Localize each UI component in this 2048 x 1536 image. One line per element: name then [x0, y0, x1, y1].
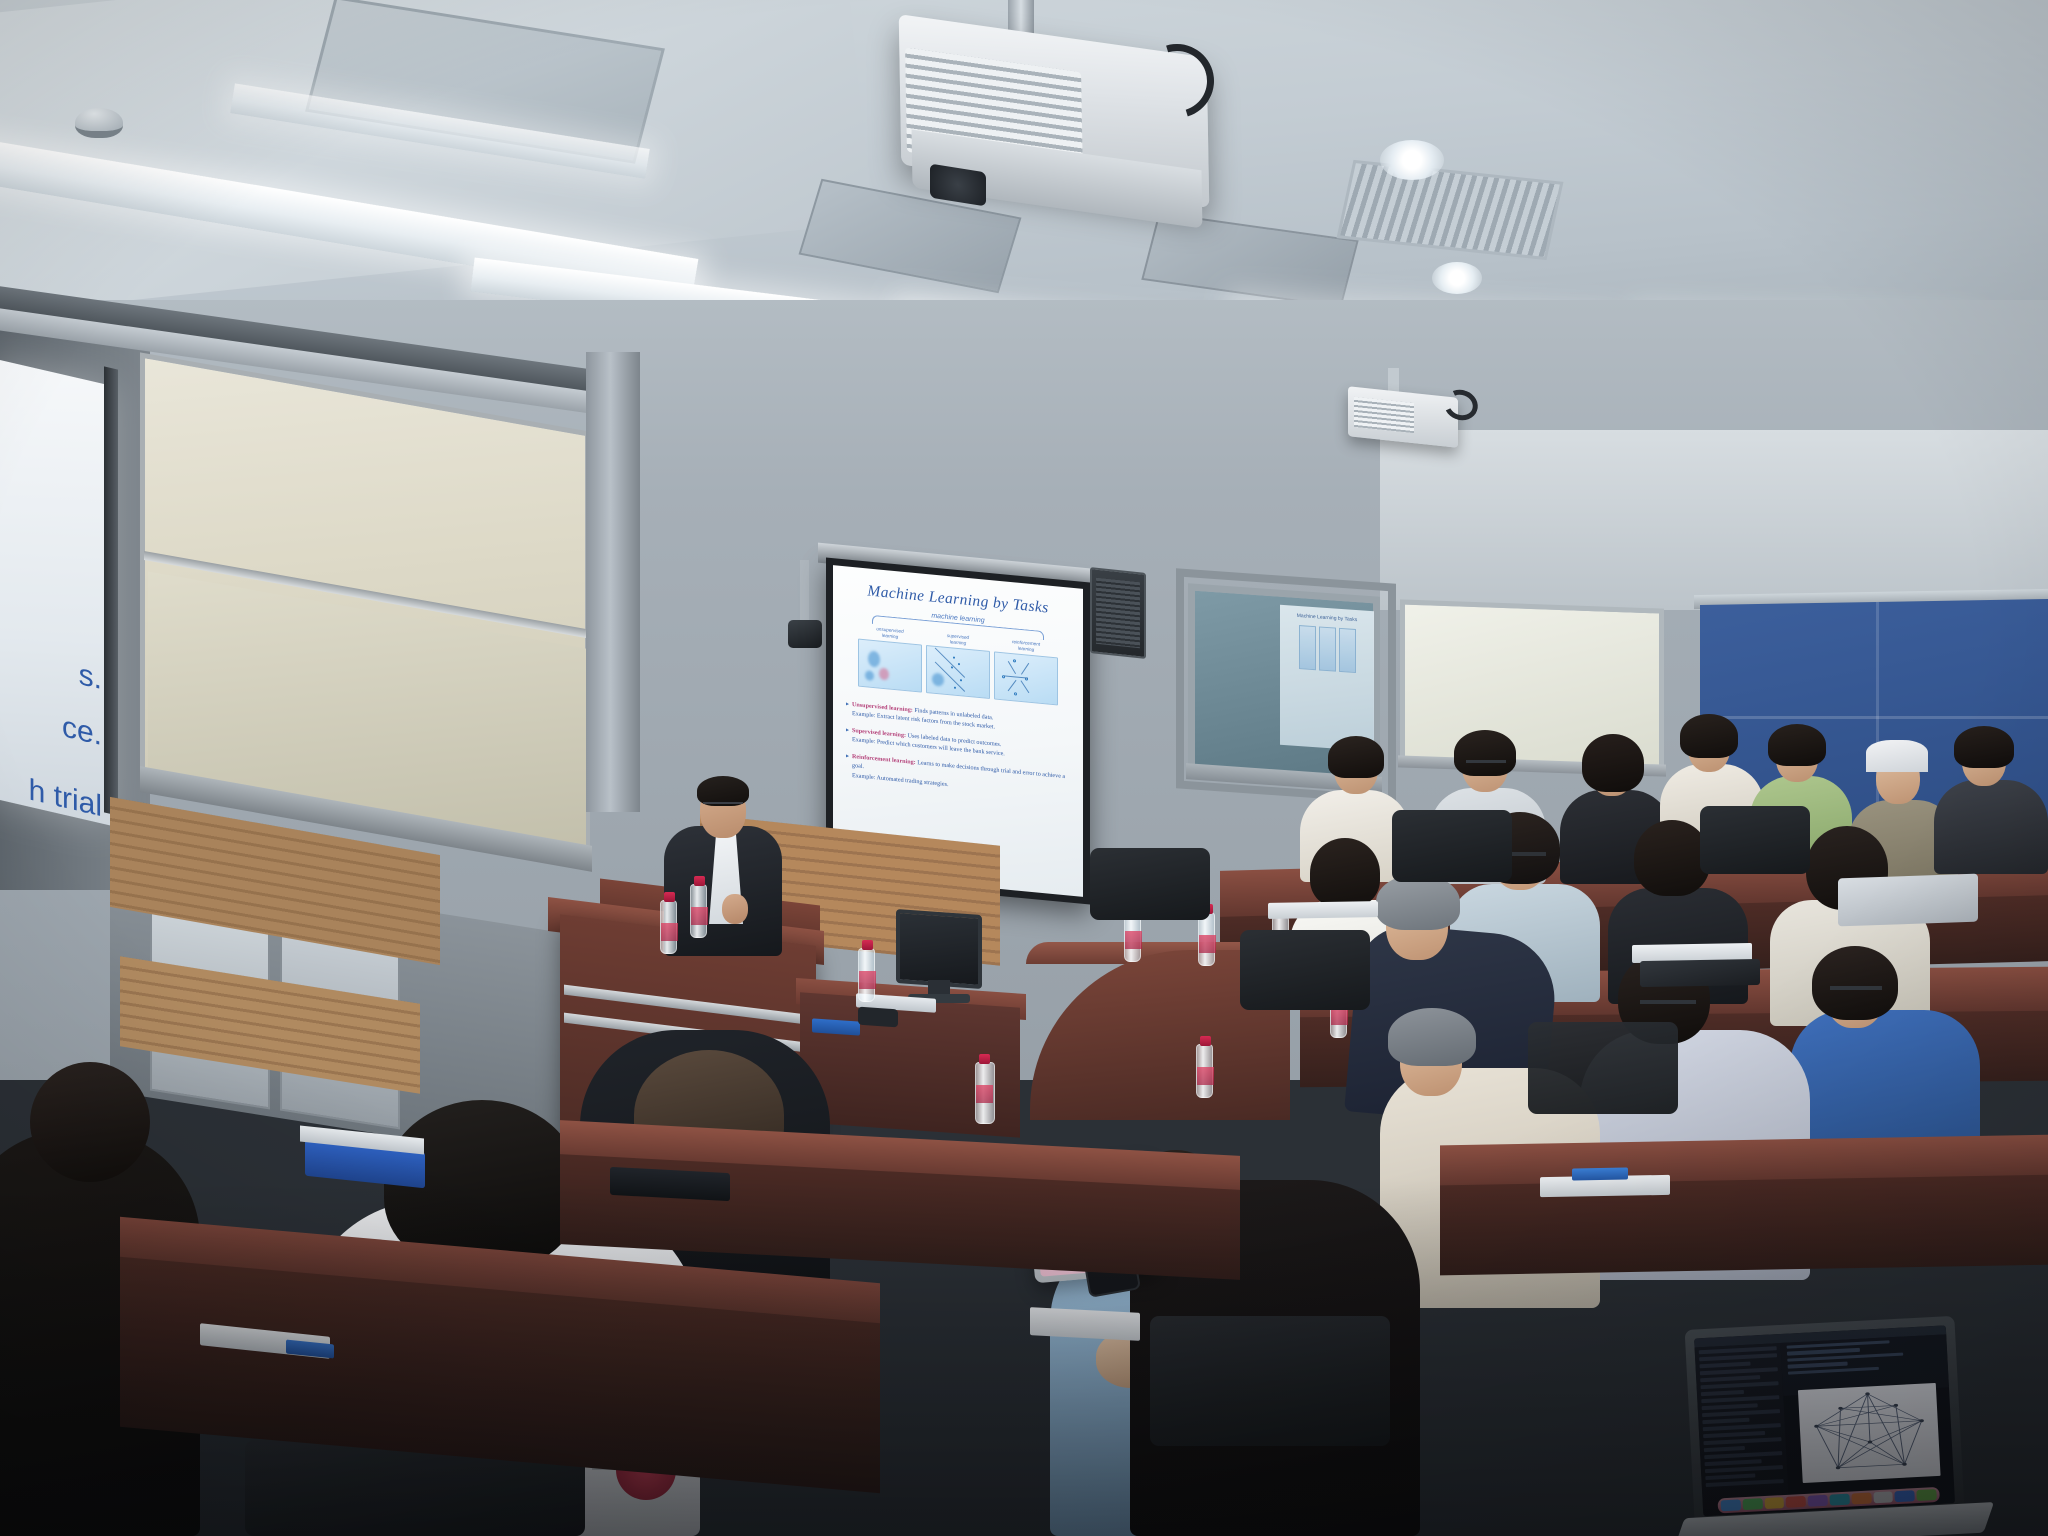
glasses-icon	[1640, 1000, 1696, 1012]
glasses-icon	[1466, 760, 1506, 769]
water-bottle	[1198, 912, 1215, 966]
chair	[1150, 1316, 1390, 1446]
laptop-open[interactable]	[1838, 874, 1978, 927]
attendee-hair	[1310, 838, 1380, 908]
attendee-hair	[1812, 946, 1898, 1020]
slide-diagram: machine learning unsupervisedlearning su…	[858, 606, 1058, 713]
lecture-hall-photo: s. ce. h trial Machine Learning by Tasks…	[0, 0, 2048, 1536]
attendee-cap	[1866, 740, 1928, 772]
wall-column	[586, 352, 640, 812]
attendee-hair	[1680, 714, 1738, 758]
water-bottle	[690, 884, 707, 938]
panel-seam	[1876, 602, 1879, 832]
diagram-thumb-supervised	[926, 645, 990, 699]
attendee-grey-hair	[1388, 1008, 1476, 1066]
papers	[1268, 901, 1378, 919]
rear-projector-vent-grille	[1354, 397, 1414, 433]
laptop-lid	[1685, 1316, 1965, 1526]
chair	[1240, 930, 1370, 1010]
attendee-grey-hair	[1376, 874, 1460, 930]
attendee-hair	[1454, 730, 1516, 776]
podium-monitor	[896, 909, 982, 989]
attendee-body	[1934, 780, 2048, 874]
water-bottle	[858, 948, 875, 1002]
attendee-hair	[1954, 726, 2014, 768]
audience-desk-right	[1440, 1175, 2048, 1276]
presenter-hand	[722, 894, 748, 924]
attendee-hair	[1582, 734, 1644, 792]
handout	[1030, 1307, 1140, 1341]
right-upper-wall	[1380, 430, 2048, 610]
diagram-thumb-reinforcement	[994, 651, 1058, 705]
bullet-arrow-icon: ▸	[846, 752, 849, 781]
laptop-screen[interactable]	[1694, 1325, 1955, 1516]
diagram-thumb-unsupervised	[858, 639, 922, 693]
left-screen-text: s. ce. h trial	[0, 626, 108, 833]
camera-icon	[788, 620, 822, 648]
slide-bullet-list: ▸ Unsupervised learning: Finds patterns …	[846, 700, 1070, 801]
glasses-icon	[703, 802, 743, 811]
left-screen-frame	[104, 366, 118, 815]
attendee-hair	[1768, 724, 1826, 766]
water-bottle	[660, 900, 677, 954]
diagram-branch: supervisedlearning	[926, 631, 990, 699]
bullet-example: Example: Automated trading strategies.	[852, 773, 948, 788]
pen	[1572, 1168, 1628, 1181]
water-bottle	[1196, 1044, 1213, 1098]
ceiling-downlight	[1432, 262, 1482, 294]
diagram-branch: unsupervisedlearning	[858, 625, 922, 693]
desk-device	[858, 1007, 898, 1028]
chair	[1700, 806, 1810, 874]
attendee-hair	[30, 1062, 150, 1182]
glasses-icon	[1830, 986, 1882, 997]
smoke-detector-icon	[75, 108, 123, 138]
attendee-hair	[1634, 820, 1710, 896]
speaker-grille-icon	[1096, 578, 1140, 649]
bullet-arrow-icon: ▸	[846, 700, 849, 719]
network-graph-plot	[1798, 1383, 1941, 1483]
laptop-closed	[1640, 959, 1760, 987]
ide-file-explorer[interactable]	[1695, 1343, 1789, 1509]
graph-svg	[1798, 1383, 1941, 1483]
chair	[1090, 848, 1210, 920]
attendee-hair	[1328, 736, 1384, 778]
chair	[1392, 810, 1512, 882]
ceiling-downlight	[1380, 140, 1444, 180]
bullet-arrow-icon: ▸	[846, 726, 849, 745]
chair	[1528, 1022, 1678, 1114]
diagram-branch: reinforcementlearning	[994, 637, 1058, 705]
macbook-laptop[interactable]	[1685, 1314, 1996, 1536]
panel-seam	[1700, 716, 2048, 719]
water-bottle	[975, 1062, 995, 1124]
